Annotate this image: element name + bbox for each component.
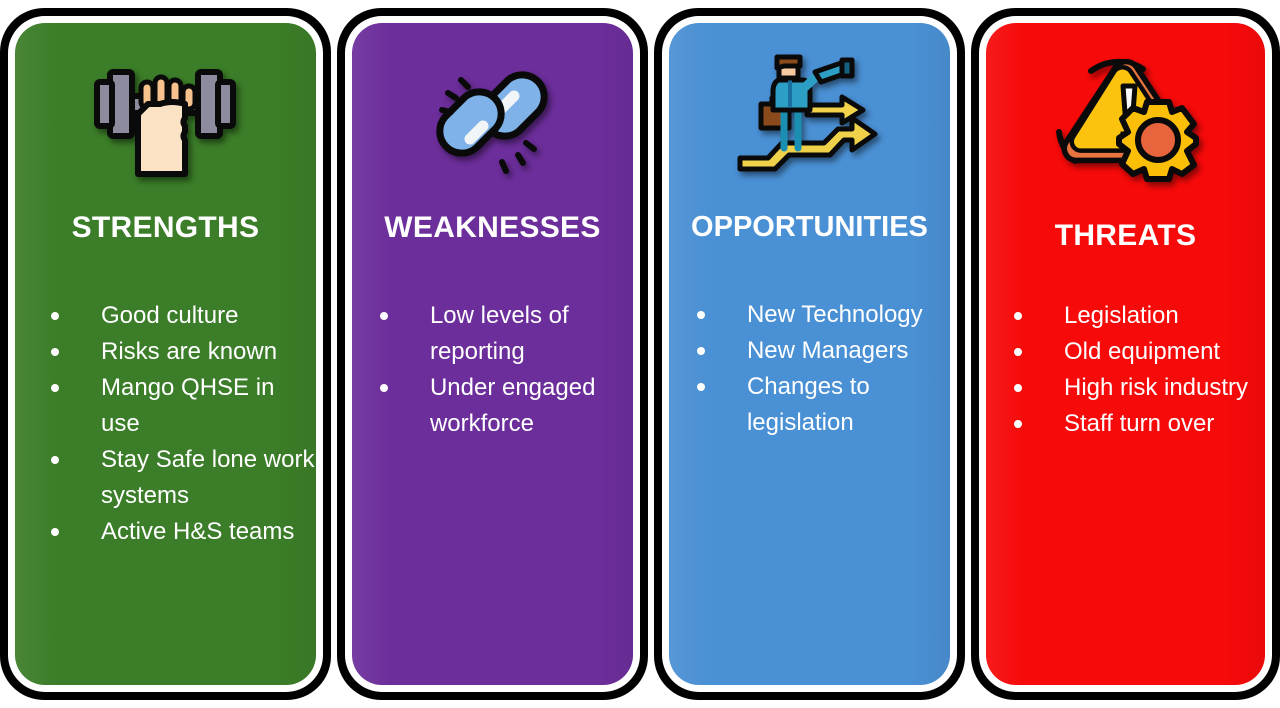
bullet-dot-icon (1014, 420, 1022, 428)
bullet-dot-icon (1014, 348, 1022, 356)
list-item-label: Old equipment (1064, 338, 1220, 365)
list-item: Mango QHSE in use (37, 370, 316, 442)
bullet-dot-icon (1014, 312, 1022, 320)
list-item: Risks are known (37, 334, 316, 370)
bullet-dot-icon (51, 348, 59, 356)
bullet-dot-icon (380, 384, 388, 392)
list-item: Under engaged workforce (366, 370, 633, 442)
swot-card-strengths[interactable]: STRENGTHS Good culture Risks are known M… (0, 8, 331, 700)
bullet-dot-icon (51, 528, 59, 536)
list-item-label: Stay Safe lone work systems (101, 446, 314, 509)
bullet-dot-icon (51, 384, 59, 392)
list-item: New Managers (683, 333, 950, 369)
list-item: Old equipment (1000, 334, 1265, 370)
dumbbell-fist-icon (15, 23, 316, 213)
list-item-label: New Managers (747, 337, 908, 364)
swot-card-opportunities[interactable]: OPPORTUNITIES New Technology New Manager… (654, 8, 965, 700)
bullet-dot-icon (380, 312, 388, 320)
list-item: New Technology (683, 297, 950, 333)
list-item: Low levels of reporting (366, 298, 633, 370)
card-body-strengths: STRENGTHS Good culture Risks are known M… (15, 23, 316, 685)
list-item-label: New Technology (747, 301, 923, 328)
card-body-weaknesses: WEAKNESSES Low levels of reporting Under… (352, 23, 633, 685)
list-item: Staff turn over (1000, 406, 1265, 442)
swot-card-threats[interactable]: THREATS Legislation Old equipment High r… (971, 8, 1280, 700)
list-item: Active H&S teams (37, 514, 316, 550)
warning-triangle-gear-icon (986, 23, 1265, 213)
bullet-dot-icon (51, 456, 59, 464)
bullet-dot-icon (697, 311, 705, 319)
businessman-telescope-arrows-icon (669, 23, 950, 213)
list-item-label: High risk industry (1064, 374, 1248, 401)
list-item-label: Mango QHSE in use (101, 374, 274, 437)
card-body-opportunities: OPPORTUNITIES New Technology New Manager… (669, 23, 950, 685)
list-item: Stay Safe lone work systems (37, 442, 316, 514)
list-item-label: Under engaged workforce (430, 374, 595, 437)
card-white-border: THREATS Legislation Old equipment High r… (979, 16, 1272, 692)
bullet-list-opportunities: New Technology New Managers Changes to l… (683, 297, 950, 441)
card-title-threats: THREATS (986, 221, 1265, 251)
bullet-dot-icon (697, 383, 705, 391)
card-title-opportunities: OPPORTUNITIES (669, 213, 950, 242)
list-item-label: Legislation (1064, 302, 1179, 329)
list-item-label: Low levels of reporting (430, 302, 569, 365)
card-white-border: STRENGTHS Good culture Risks are known M… (8, 16, 323, 692)
card-title-weaknesses: WEAKNESSES (352, 213, 633, 243)
card-body-threats: THREATS Legislation Old equipment High r… (986, 23, 1265, 685)
bullet-list-strengths: Good culture Risks are known Mango QHSE … (37, 298, 316, 550)
bullet-dot-icon (697, 347, 705, 355)
list-item: High risk industry (1000, 370, 1265, 406)
list-item: Good culture (37, 298, 316, 334)
bullet-dot-icon (1014, 384, 1022, 392)
card-title-strengths: STRENGTHS (15, 213, 316, 243)
bullet-list-weaknesses: Low levels of reporting Under engaged wo… (366, 298, 633, 442)
card-white-border: OPPORTUNITIES New Technology New Manager… (662, 16, 957, 692)
swot-board: STRENGTHS Good culture Risks are known M… (0, 0, 1280, 708)
swot-card-weaknesses[interactable]: WEAKNESSES Low levels of reporting Under… (337, 8, 648, 700)
card-white-border: WEAKNESSES Low levels of reporting Under… (345, 16, 640, 692)
list-item-label: Staff turn over (1064, 410, 1214, 437)
list-item: Legislation (1000, 298, 1265, 334)
bullet-dot-icon (51, 312, 59, 320)
broken-chain-icon (352, 23, 633, 213)
list-item: Changes to legislation (683, 369, 950, 441)
list-item-label: Good culture (101, 302, 238, 329)
list-item-label: Risks are known (101, 338, 277, 365)
list-item-label: Active H&S teams (101, 518, 294, 545)
list-item-label: Changes to legislation (747, 373, 870, 436)
bullet-list-threats: Legislation Old equipment High risk indu… (1000, 298, 1265, 442)
